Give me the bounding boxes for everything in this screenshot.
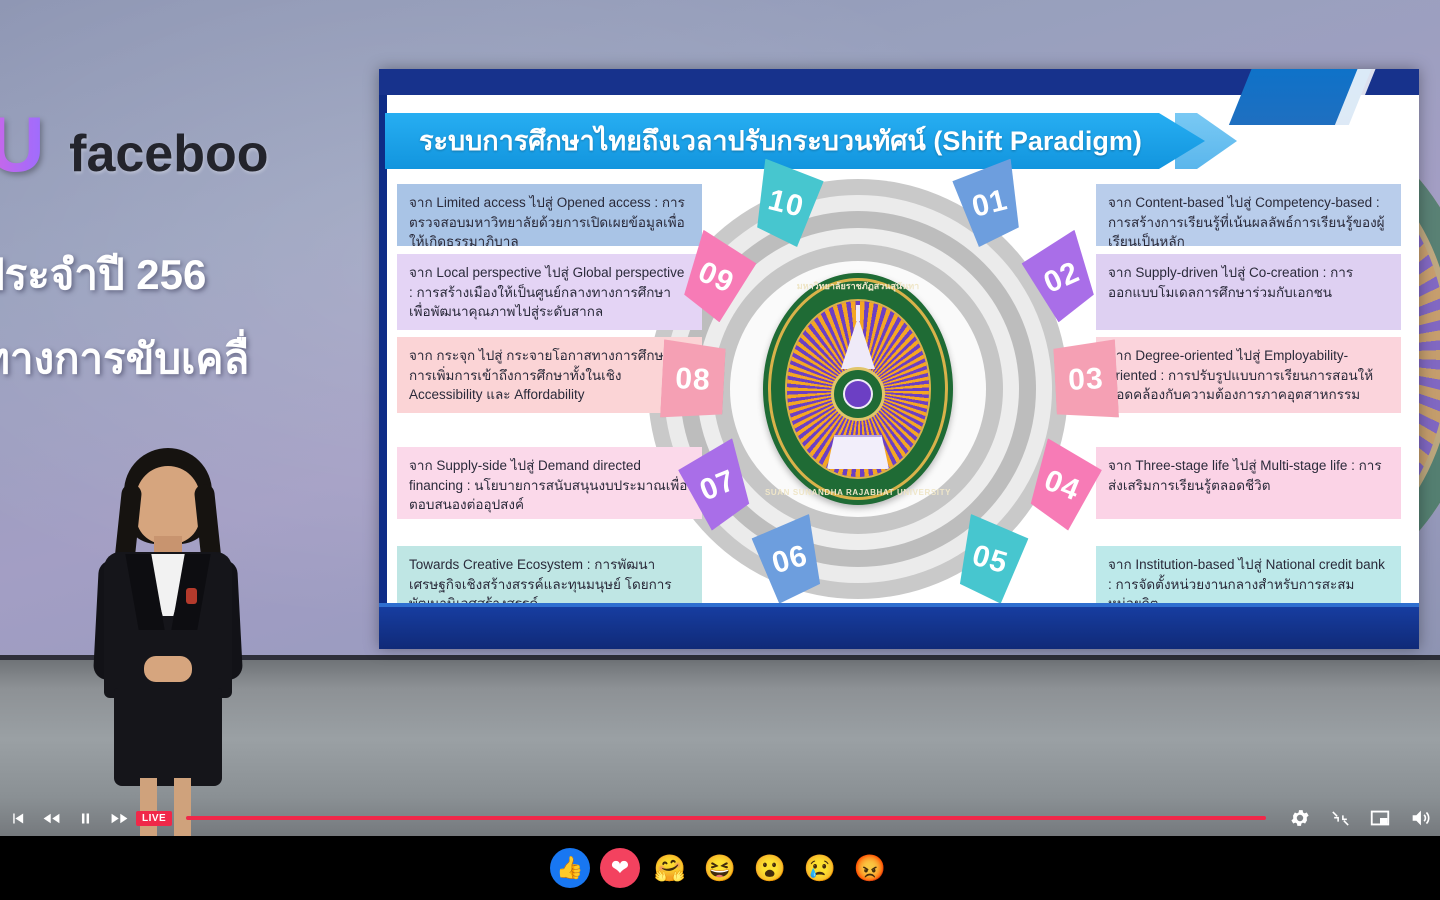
reaction-sad[interactable]: 😢	[800, 848, 840, 888]
fast-forward-button[interactable]	[102, 801, 136, 835]
slide-item-panel-07: จาก Local perspective ไปสู่ Global persp…	[397, 254, 702, 330]
slide-item-panel-08: จาก กระจุก ไปสู่ กระจายโอกาสทางการศึกษา …	[397, 337, 702, 413]
volume-button[interactable]	[1400, 801, 1440, 835]
rewind-button[interactable]	[34, 801, 68, 835]
background-logo-text: RU	[0, 105, 47, 183]
gear-icon	[1289, 807, 1311, 829]
university-seal: มหาวิทยาลัยราชภัฏสวนสุนันทา SUAN SUNANDH…	[763, 273, 953, 505]
exit-fullscreen-icon	[1331, 809, 1350, 828]
slide-title-banner: ระบบการศึกษาไทยถึงเวลาปรับกระบวนทัศน์ (S…	[385, 113, 1225, 169]
progress-bar[interactable]	[186, 816, 1266, 820]
slide-item-panel-06: จาก Limited access ไปสู่ Opened access :…	[397, 184, 702, 246]
slide-item-number-08: 08	[660, 339, 726, 420]
video-surface[interactable]: RU faceboo กรประจำปี 256 นวทางการขับเคลื…	[0, 0, 1440, 836]
reaction-bar: 👍❤🤗😆😮😢😡	[0, 836, 1440, 900]
lapel-pin	[186, 588, 197, 604]
picture-in-picture-icon	[1369, 807, 1391, 829]
exit-fullscreen-button[interactable]	[1320, 801, 1360, 835]
slide-item-text-06: จาก Limited access ไปสู่ Opened access :…	[409, 193, 690, 252]
slide-item-text-02: จาก Supply-driven ไปสู่ Co-creation : กา…	[1108, 263, 1389, 302]
reaction-care[interactable]: 🤗	[650, 848, 690, 888]
seal-english-text: SUAN SUNANDHA RAJABHAT UNIVERSITY	[763, 488, 953, 497]
slide-item-panel-01: จาก Content-based ไปสู่ Competency-based…	[1096, 184, 1401, 246]
player-controls: LIVE	[0, 800, 1440, 836]
reaction-angry[interactable]: 😡	[850, 848, 890, 888]
reaction-haha[interactable]: 😆	[700, 848, 740, 888]
slide-item-text-01: จาก Content-based ไปสู่ Competency-based…	[1108, 193, 1389, 252]
pause-icon	[77, 810, 94, 827]
settings-button[interactable]	[1280, 801, 1320, 835]
rewind-icon	[42, 809, 61, 828]
slide-item-text-04: จาก Three-stage life ไปสู่ Multi-stage l…	[1108, 456, 1389, 495]
background-facebook-text: faceboo	[69, 125, 268, 183]
slide-item-number-03: 03	[1053, 339, 1119, 420]
picture-in-picture-button[interactable]	[1360, 801, 1400, 835]
slide-item-text-08: จาก กระจุก ไปสู่ กระจายโอกาสทางการศึกษา …	[409, 346, 690, 405]
reaction-like[interactable]: 👍	[550, 848, 590, 888]
skip-back-button[interactable]	[0, 801, 34, 835]
slide-item-panel-03: จาก Degree-oriented ไปสู่ Employability-…	[1096, 337, 1401, 413]
medal-icon	[831, 367, 885, 421]
presentation-slide: ระบบการศึกษาไทยถึงเวลาปรับกระบวนทัศน์ (S…	[379, 69, 1419, 649]
pedestal-icon	[827, 435, 889, 469]
seal-thai-text: มหาวิทยาลัยราชภัฏสวนสุนันทา	[763, 279, 953, 293]
pause-button[interactable]	[68, 801, 102, 835]
live-indicator[interactable]: LIVE	[136, 811, 172, 826]
skip-back-icon	[9, 810, 26, 827]
slide-left-border	[379, 95, 387, 607]
slide-item-text-07: จาก Local perspective ไปสู่ Global persp…	[409, 263, 690, 322]
fast-forward-icon	[110, 809, 129, 828]
slide-item-text-03: จาก Degree-oriented ไปสู่ Employability-…	[1108, 346, 1389, 405]
slide-bottom-bar	[379, 607, 1419, 649]
slide-item-panel-02: จาก Supply-driven ไปสู่ Co-creation : กา…	[1096, 254, 1401, 330]
live-video-player: สด 1.2 พัน RU faceboo กรประจำปี 256 นวทา…	[0, 0, 1440, 900]
slide-item-text-09: จาก Supply-side ไปสู่ Demand directed fi…	[409, 456, 690, 515]
reaction-love[interactable]: ❤	[600, 848, 640, 888]
presenter	[78, 448, 258, 808]
volume-icon	[1409, 807, 1431, 829]
slide-item-panel-09: จาก Supply-side ไปสู่ Demand directed fi…	[397, 447, 702, 519]
reaction-wow[interactable]: 😮	[750, 848, 790, 888]
slide-title: ระบบการศึกษาไทยถึงเวลาปรับกระบวนทัศน์ (S…	[419, 113, 1142, 169]
slide-item-panel-04: จาก Three-stage life ไปสู่ Multi-stage l…	[1096, 447, 1401, 519]
pagoda-icon	[841, 317, 875, 369]
